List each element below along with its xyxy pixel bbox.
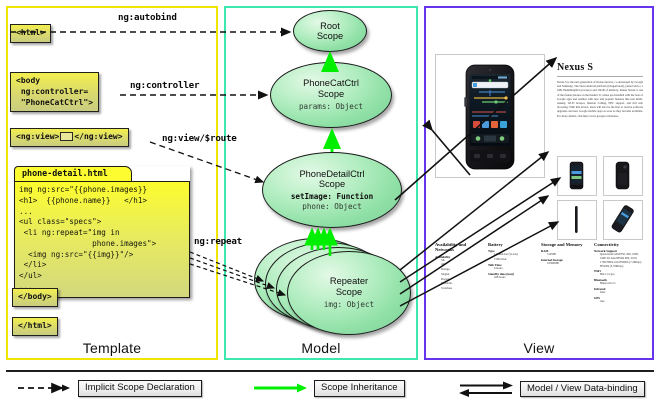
legend-item-inheritance: Scope Inheritance xyxy=(252,380,405,397)
spec-value: 16384MB xyxy=(541,262,590,266)
thumbnail-phone-front[interactable] xyxy=(557,156,597,196)
code-card-filename: phone-detail.html xyxy=(14,166,132,181)
spec-value: false xyxy=(594,291,643,295)
legend-divider xyxy=(6,370,654,372)
phone-angle-thumb-icon xyxy=(604,201,640,237)
spec-column: Battery Type Lithium Ion (Li-Ion) 1500 m… xyxy=(488,242,537,304)
scope-phonedetailctrl-title: PhoneDetailCtrlScope xyxy=(299,169,364,190)
tag-html-open: <html> xyxy=(10,24,51,43)
label-ng-view-route: ng:view/$route xyxy=(162,133,237,144)
spec-value: Quad-band GSM 850, 900, 1800, 1900 Tri-b… xyxy=(594,253,643,268)
spec-column: Connectivity Network Support Quad-band G… xyxy=(594,242,643,304)
ngview-slot-icon xyxy=(60,132,73,141)
view-page-description: Nexus S is the next generation of Nexus … xyxy=(557,80,643,118)
scope-prop: img: Object xyxy=(324,300,374,309)
tag-html-close: </html> xyxy=(12,317,58,336)
spec-column: Availability and Networks Availability S… xyxy=(435,242,484,304)
spec-heading: Battery xyxy=(488,242,537,247)
scope-phonecatctrl-props: params: Object xyxy=(299,102,363,111)
view-page-title: Nexus S xyxy=(557,62,593,73)
legend-label-databinding: Model / View Data-binding xyxy=(520,381,645,398)
green-arrow-icon xyxy=(252,381,308,395)
phone-hero-image[interactable] xyxy=(435,54,545,178)
scope-prop-bold: setImage: Function xyxy=(291,192,373,201)
scope-prop: phone: Object xyxy=(291,202,373,211)
dashed-arrow-icon xyxy=(16,381,72,395)
scope-phonecatctrl: PhoneCatCtrlScope params: Object xyxy=(270,62,392,128)
scope-phonecatctrl-title: PhoneCatCtrlScope xyxy=(303,78,359,99)
double-arrow-icon xyxy=(458,380,514,398)
scope-repeater-props: img: Object xyxy=(324,300,374,309)
scope-root-title: RootScope xyxy=(317,21,343,42)
spec-value: true xyxy=(594,300,643,304)
spec-heading: Storage and Memory xyxy=(541,242,590,247)
specs-table: Availability and Networks Availability S… xyxy=(435,242,643,304)
tag-ngview-close: </ng:view> xyxy=(74,132,122,141)
spec-value: 428 hours xyxy=(488,276,537,280)
tag-body-open: <body ng:controller= "PhoneCatCtrl"> xyxy=(10,72,99,112)
code-card-source: img ng:src="{{phone.images}} <h1> {{phon… xyxy=(14,181,190,298)
spec-value: Bluetooth 2.1 xyxy=(594,282,643,286)
tag-ngview-open: <ng:view> xyxy=(16,132,59,141)
column-label-template: Template xyxy=(8,340,216,356)
scope-repeater-stack: RepeaterScope img: Object xyxy=(254,238,414,338)
thumbnail-phone-side[interactable] xyxy=(557,200,597,240)
scope-prop: setImage: Function xyxy=(291,192,373,201)
phone-back-thumb-icon xyxy=(604,157,640,193)
column-label-model: Model xyxy=(226,340,416,356)
thumbnail-phone-back[interactable] xyxy=(603,156,643,196)
phone-front-thumb-icon xyxy=(558,157,594,193)
legend: Implicit Scope Declaration Scope Inherit… xyxy=(6,380,654,406)
thumbnail-phone-angle[interactable] xyxy=(603,200,643,240)
scope-prop: params: Object xyxy=(299,102,363,111)
spec-heading: Availability and Networks xyxy=(435,242,484,253)
spec-heading: Connectivity xyxy=(594,242,643,247)
spec-value: 1500 mAh xyxy=(488,258,537,262)
spec-column: Storage and Memory RAM 512MB Internal St… xyxy=(541,242,590,304)
label-ng-repeat: ng:repeat xyxy=(194,236,242,247)
phone-side-thumb-icon xyxy=(558,201,594,237)
label-ng-controller: ng:controller xyxy=(130,80,199,91)
spec-value: 802.11 b/g/n xyxy=(594,273,643,277)
scope-repeater-title: RepeaterScope xyxy=(330,276,368,297)
legend-item-databinding: Model / View Data-binding xyxy=(458,380,645,398)
legend-item-implicit: Implicit Scope Declaration xyxy=(16,380,202,397)
spec-value: 512MB xyxy=(541,253,590,257)
column-label-view: View xyxy=(426,340,652,356)
scope-phonedetailctrl: PhoneDetailCtrlScope setImage: Function … xyxy=(262,152,402,228)
scope-phonedetailctrl-props: setImage: Function phone: Object xyxy=(291,192,373,211)
legend-label-implicit: Implicit Scope Declaration xyxy=(78,380,202,397)
label-ng-autobind: ng:autobind xyxy=(118,12,177,23)
title-divider xyxy=(557,76,643,77)
spec-value: 6 hours xyxy=(488,267,537,271)
spec-value: Vodafone xyxy=(435,287,484,291)
scope-repeater: RepeaterScope img: Object xyxy=(287,251,411,335)
code-card-phone-detail: phone-detail.html img ng:src="{{phone.im… xyxy=(14,166,190,298)
tag-ngview: <ng:view></ng:view> xyxy=(10,128,129,147)
tag-body-close: </body> xyxy=(12,288,58,307)
diagram-canvas: Template Model View <html> <body ng:cont… xyxy=(0,0,660,420)
rendered-view-page: Nexus S Nexus S is the next generation o… xyxy=(431,14,647,336)
scope-root: RootScope xyxy=(293,10,367,52)
phone-front-svg xyxy=(436,55,544,177)
legend-label-inheritance: Scope Inheritance xyxy=(314,380,405,397)
